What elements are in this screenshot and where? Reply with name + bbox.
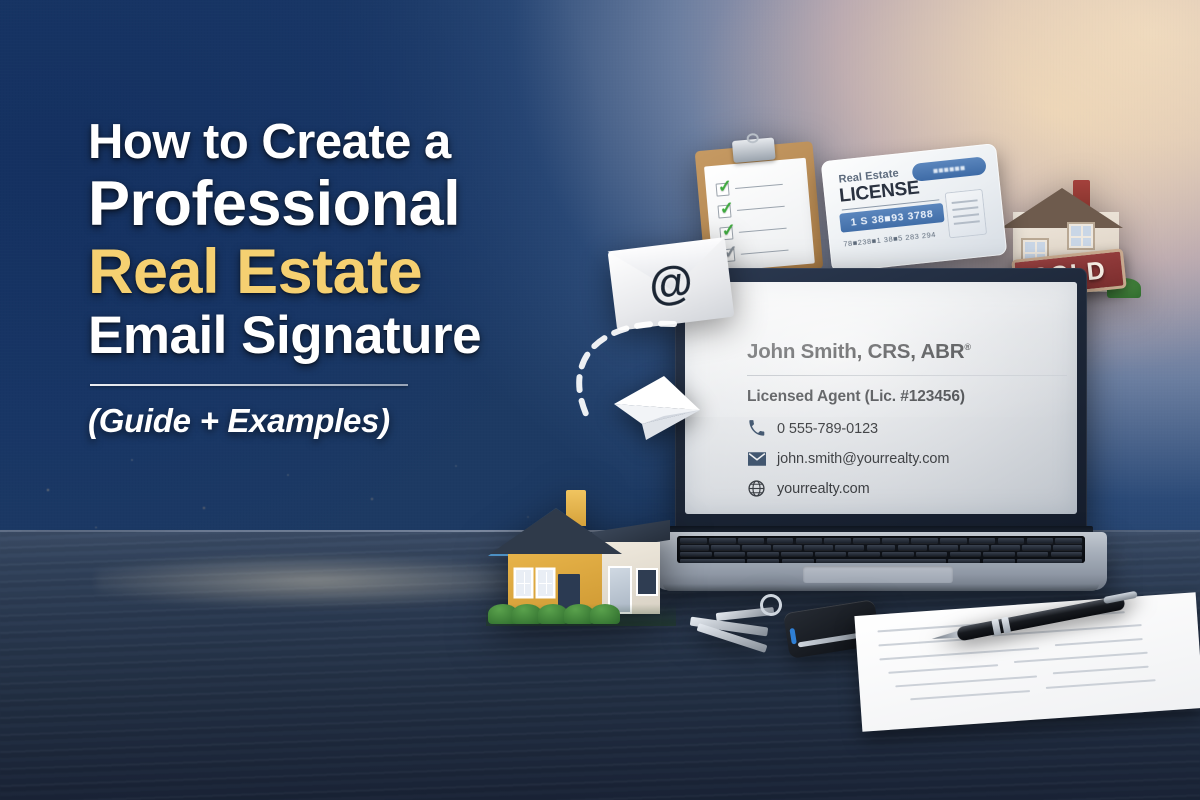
- house-model-roof: [490, 508, 622, 554]
- at-symbol-icon: @: [646, 258, 695, 308]
- laptop-base: [655, 532, 1107, 590]
- headline-divider: [90, 384, 408, 386]
- signature-email: john.smith@yourrealty.com: [777, 451, 949, 467]
- house-model-window: [516, 570, 531, 596]
- checkbox-checked-icon: ✓: [717, 204, 731, 218]
- license-pill: ■■■■■■: [911, 156, 986, 182]
- clipboard-rule: [737, 205, 785, 211]
- laptop-keyboard: [677, 536, 1085, 563]
- laptop-front-lip: [663, 584, 1099, 591]
- checkbox-checked-icon: ✓: [716, 183, 730, 197]
- keyboard-row: [677, 559, 1085, 563]
- license-pill-text: ■■■■■■: [932, 162, 965, 175]
- house-roof: [1001, 188, 1123, 228]
- clipboard-rule: [741, 249, 789, 255]
- signature-name: John Smith, CRS, ABR®: [747, 340, 1051, 364]
- phone-icon: [747, 419, 766, 438]
- car-keys: [690, 596, 880, 666]
- signature-row-website: yourrealty.com: [747, 479, 1051, 498]
- hero-banner: How to Create a Professional Real Estate…: [0, 0, 1200, 800]
- license-number: 1 S 38■93 3788: [850, 208, 934, 229]
- signature-row-phone: 0 555-789-0123: [747, 419, 1051, 438]
- headline-line-3-accent: Real Estate: [88, 241, 558, 304]
- keyboard-row: [677, 545, 1085, 550]
- license-card: Real Estate LICENSE ■■■■■■ 1 S 38■93 378…: [821, 143, 1008, 273]
- key-fob-accent: [789, 628, 796, 645]
- keyboard-row: [677, 538, 1085, 543]
- signature-row-email: john.smith@yourrealty.com: [747, 449, 1051, 468]
- headline-line-1: How to Create a: [88, 118, 558, 167]
- envelope-graphic: @: [608, 237, 735, 331]
- signature-phone: 0 555-789-0123: [777, 421, 878, 437]
- paper-plane-icon: [612, 370, 702, 442]
- laptop-screen: John Smith, CRS, ABR® Licensed Agent (Li…: [685, 282, 1077, 514]
- house-model-window: [538, 570, 553, 596]
- key-fob-button: [798, 633, 862, 648]
- house-model: [486, 486, 676, 626]
- headline-line-4: Email Signature: [88, 309, 558, 362]
- license-document-icon: [945, 189, 988, 239]
- keyboard-row: [677, 552, 1085, 557]
- clipboard-rule: [735, 184, 783, 190]
- laptop-trackpad: [803, 566, 953, 583]
- envelope-icon: [747, 449, 766, 468]
- headline-block: How to Create a Professional Real Estate…: [88, 118, 558, 440]
- license-fine-print: 78■238■1 38■5 283 294: [843, 230, 936, 249]
- house-model-side-window: [638, 570, 656, 594]
- signature-website: yourrealty.com: [777, 481, 870, 497]
- house-window: [1069, 224, 1093, 248]
- headline-line-2: Professional: [88, 173, 558, 236]
- signature-title: Licensed Agent (Lic. #123456): [747, 388, 1051, 406]
- email-signature-preview: John Smith, CRS, ABR® Licensed Agent (Li…: [747, 340, 1051, 509]
- clipboard-rule: [739, 227, 787, 233]
- shrub: [590, 604, 620, 624]
- headline-subtitle: (Guide + Examples): [88, 402, 558, 440]
- signature-divider: [747, 375, 1067, 376]
- globe-icon: [747, 479, 766, 498]
